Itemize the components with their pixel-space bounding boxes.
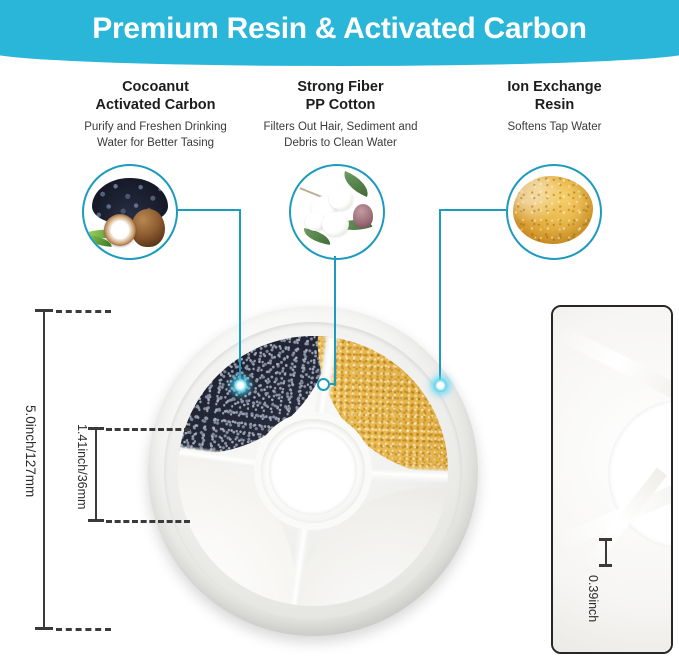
cotton-boll-icon bbox=[289, 164, 385, 260]
cotton-puff-icon bbox=[329, 188, 353, 210]
feature-column-carbon: Cocoanut Activated Carbon Purify and Fre… bbox=[48, 78, 263, 151]
product-infographic: Premium Resin & Activated Carbon Cocoanu… bbox=[0, 0, 679, 660]
coconut-half-icon bbox=[104, 214, 136, 246]
dimension-label-thickness: 0.39inch bbox=[586, 575, 600, 622]
resin-marker bbox=[434, 379, 447, 392]
resin-beads-icon bbox=[506, 164, 602, 260]
coconut-carbon-icon bbox=[82, 164, 178, 260]
coconut-whole-icon bbox=[131, 209, 165, 247]
cotton-marker bbox=[317, 378, 330, 391]
filter-disc bbox=[148, 306, 478, 636]
cotton-bud-icon bbox=[353, 204, 373, 228]
thickness-detail-panel bbox=[551, 305, 673, 654]
disc-center-hole bbox=[269, 427, 357, 515]
feature-desc-cotton: Filters Out Hair, Sediment and Debris to… bbox=[238, 119, 443, 151]
carbon-marker bbox=[234, 379, 247, 392]
page-title: Premium Resin & Activated Carbon bbox=[0, 0, 679, 58]
cotton-puff-icon bbox=[322, 212, 349, 236]
feature-column-resin: Ion Exchange Resin Softens Tap Water bbox=[452, 78, 657, 135]
resin-pile-icon bbox=[513, 176, 593, 244]
feature-desc-carbon: Purify and Freshen Drinking Water for Be… bbox=[48, 119, 263, 151]
dimension-label-outer: 5.0inch/127mm bbox=[23, 405, 38, 497]
feature-title-carbon: Cocoanut Activated Carbon bbox=[48, 78, 263, 114]
feature-title-cotton: Strong Fiber PP Cotton bbox=[238, 78, 443, 114]
feature-column-cotton: Strong Fiber PP Cotton Filters Out Hair,… bbox=[238, 78, 443, 151]
feature-title-resin: Ion Exchange Resin bbox=[452, 78, 657, 114]
feature-desc-resin: Softens Tap Water bbox=[452, 119, 657, 135]
dimension-label-inner: 1.41inch/36mm bbox=[75, 424, 89, 509]
